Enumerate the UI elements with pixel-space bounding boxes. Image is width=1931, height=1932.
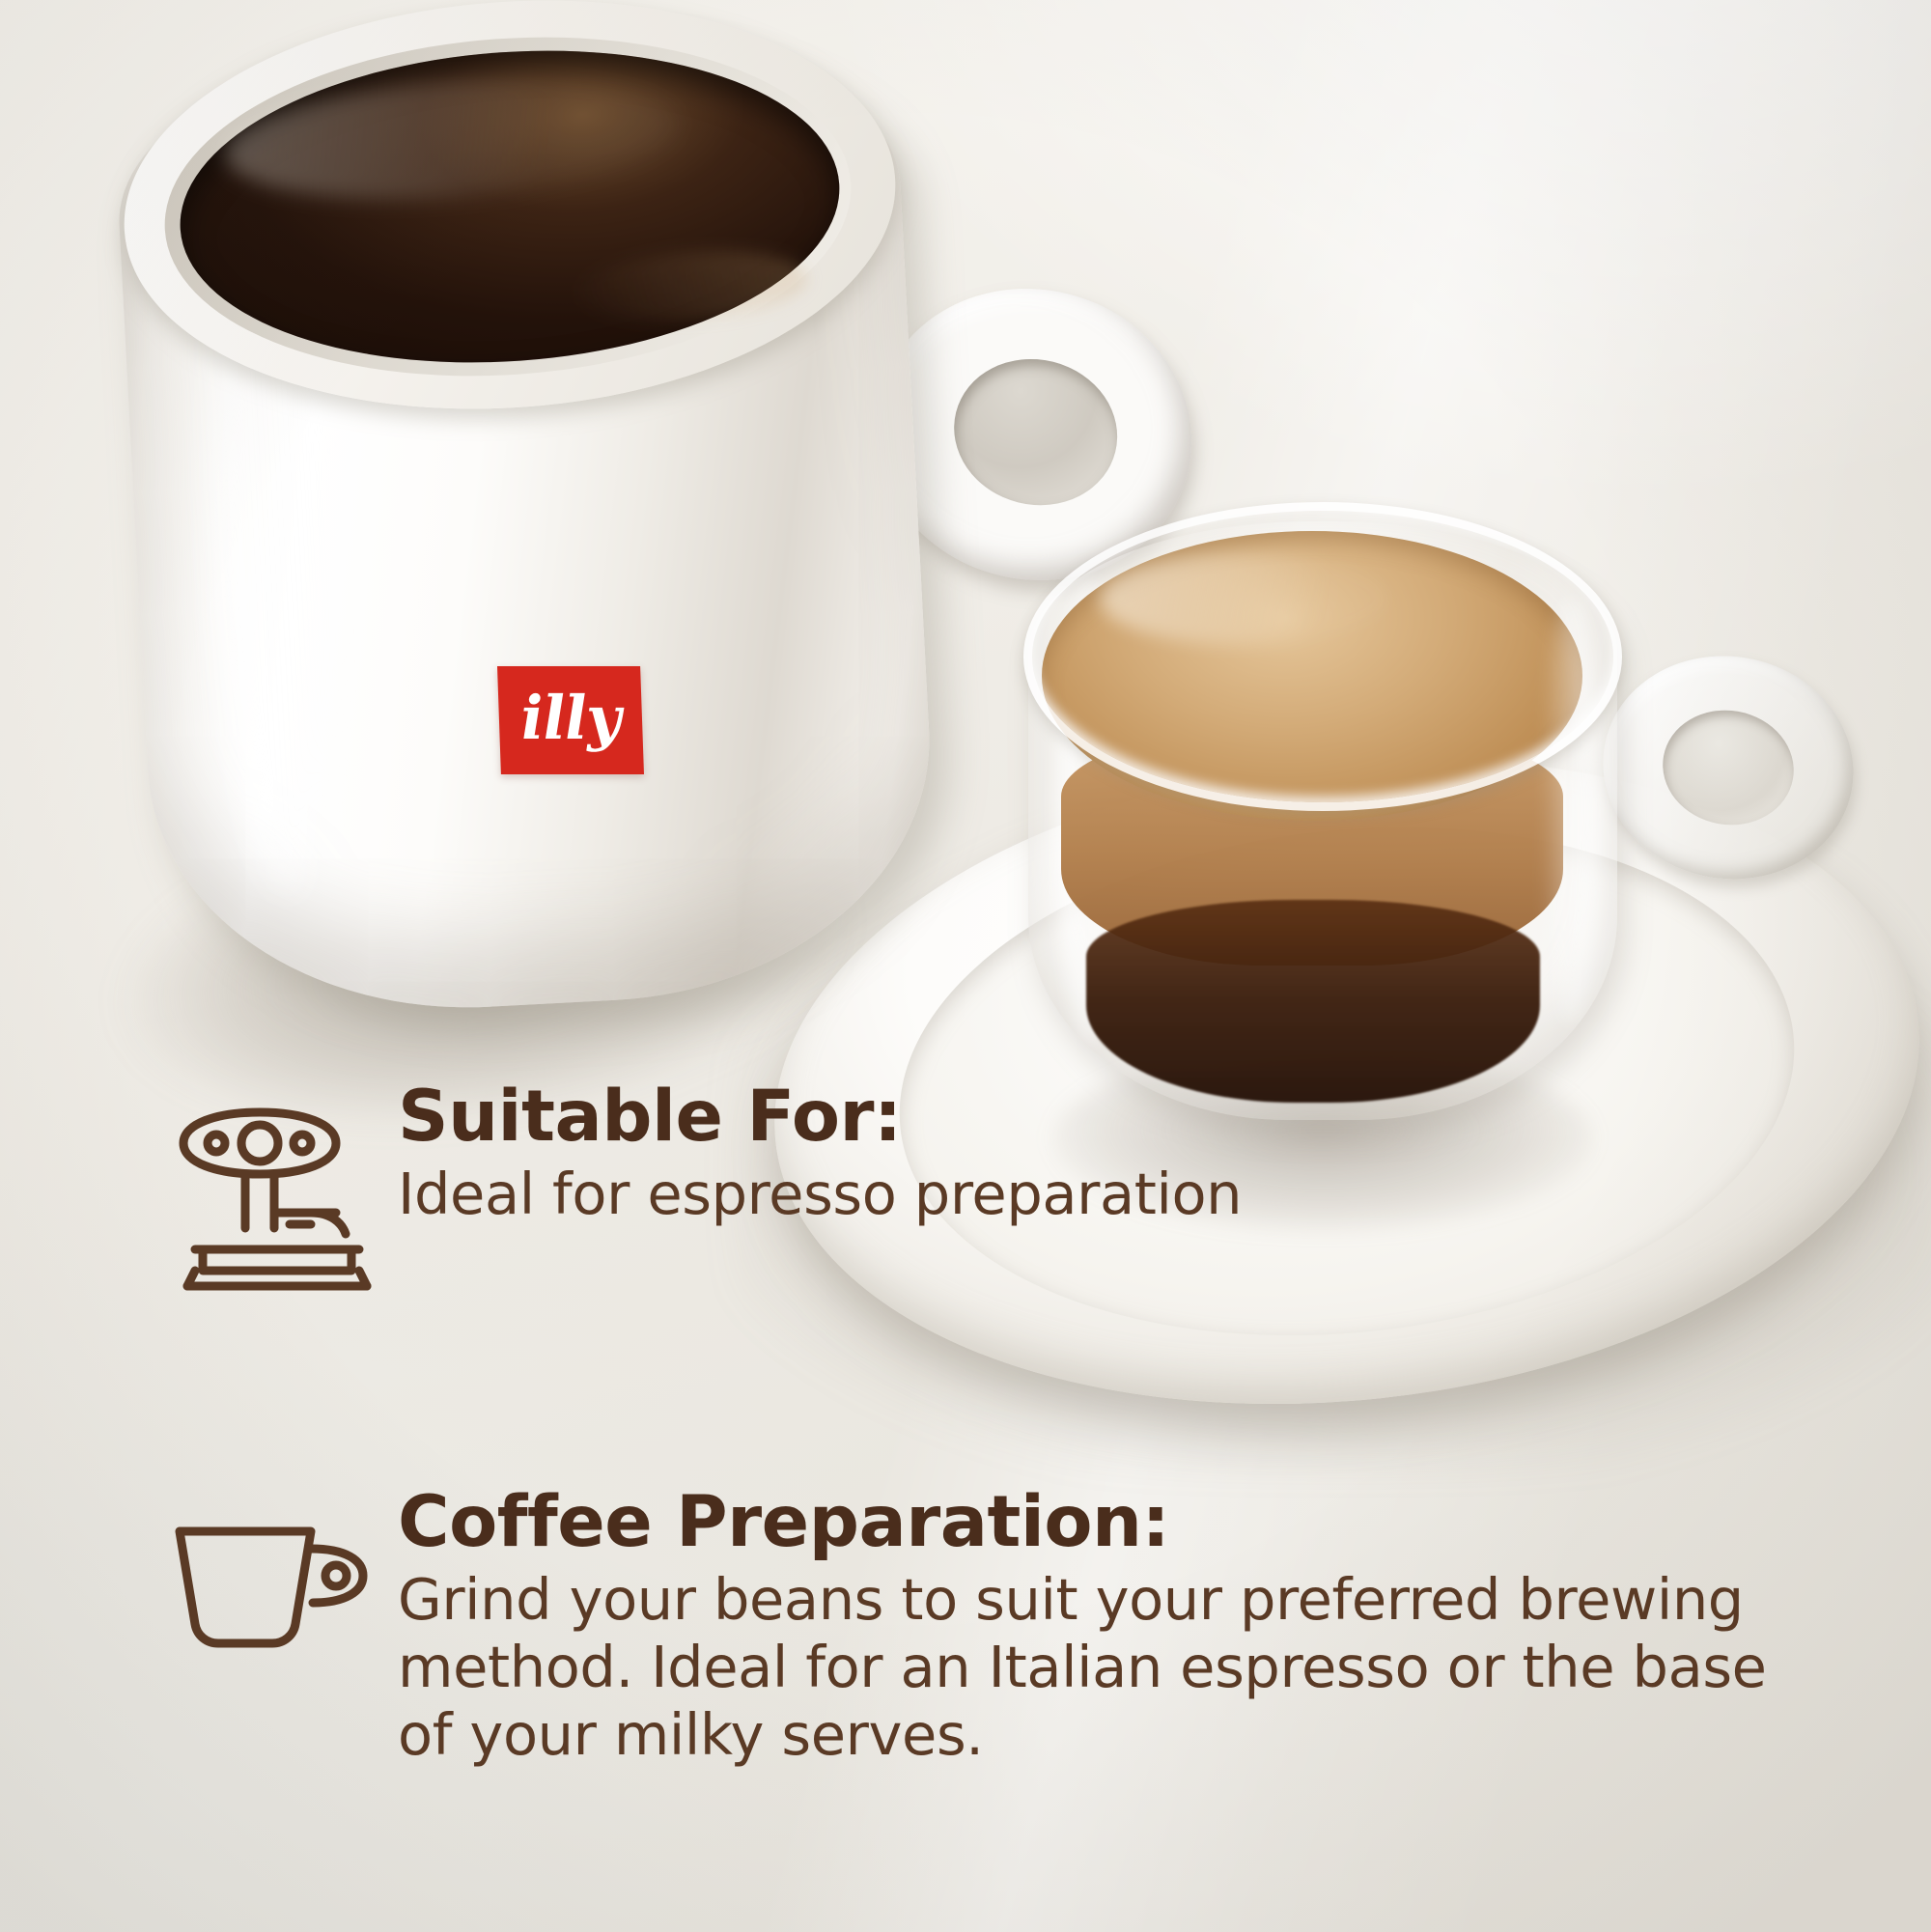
info-body: Grind your beans to suit your preferred … — [398, 1566, 1778, 1768]
info-body: Ideal for espresso preparation — [398, 1161, 1778, 1228]
info-title: Suitable For: — [398, 1081, 1892, 1153]
info-block-suitable-for: Suitable For: Ideal for espresso prepara… — [0, 1081, 1931, 1307]
text-column: Coffee Preparation: Grind your beans to … — [398, 1487, 1931, 1768]
info-title: Coffee Preparation: — [398, 1487, 1892, 1558]
espresso-machine-icon — [166, 1105, 388, 1307]
coffee-cup-icon — [166, 1510, 388, 1665]
icon-column — [166, 1487, 398, 1665]
text-column: Suitable For: Ideal for espresso prepara… — [398, 1081, 1931, 1228]
icon-column — [166, 1081, 398, 1307]
info-section: Suitable For: Ideal for espresso prepara… — [0, 1081, 1931, 1768]
info-block-coffee-preparation: Coffee Preparation: Grind your beans to … — [0, 1487, 1931, 1768]
product-info-image: illy — [0, 0, 1931, 1932]
